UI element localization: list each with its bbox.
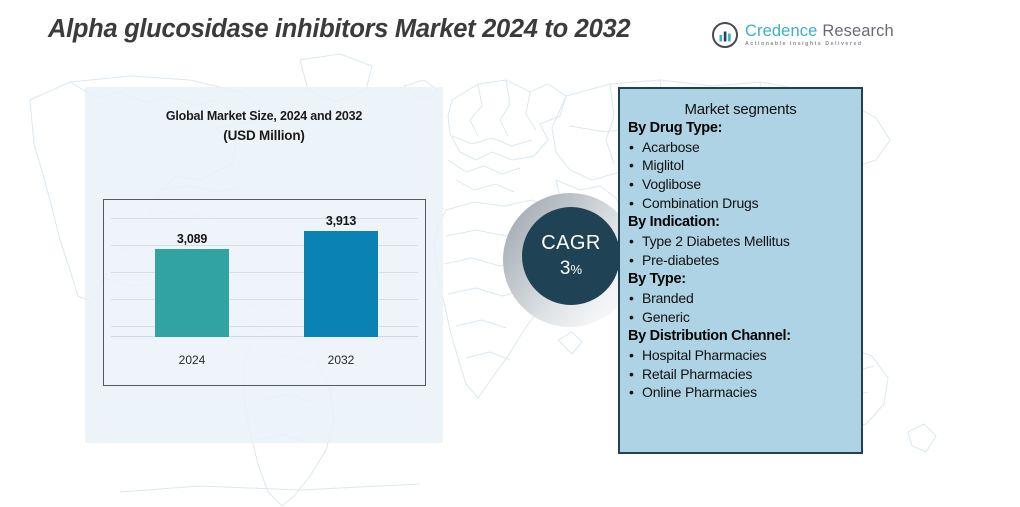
segment-group: By Distribution Channel:•Hospital Pharma… — [620, 327, 861, 402]
segment-item-label: Hospital Pharmacies — [642, 347, 767, 363]
segment-item-label: Acarbose — [642, 139, 700, 155]
logo-text: Credence Research Actionable Insights De… — [745, 23, 894, 48]
cagr-value-row: 3 % — [560, 258, 582, 280]
segment-item[interactable]: •Voglibose — [620, 175, 861, 194]
segment-item[interactable]: •Combination Drugs — [620, 194, 861, 213]
segment-heading: By Drug Type: — [620, 119, 861, 138]
axis-label-2024: 2024 — [155, 353, 229, 367]
chart-bars-circle-logo-icon — [712, 22, 738, 48]
segment-item-label: Combination Drugs — [642, 195, 758, 211]
segment-item[interactable]: •Miglitol — [620, 156, 861, 175]
segment-list: •Acarbose•Miglitol•Voglibose•Combination… — [620, 138, 861, 212]
segments-body: By Drug Type:•Acarbose•Miglitol•Voglibos… — [620, 119, 861, 402]
axis-label-2032: 2032 — [304, 353, 378, 367]
segment-item-label: Pre-diabetes — [642, 252, 719, 268]
brand-logo[interactable]: Credence Research Actionable Insights De… — [712, 22, 894, 48]
cagr-circle: CAGR 3 % — [522, 207, 620, 305]
chart-subtitle: (USD Million) — [85, 128, 443, 143]
logo-word-research: Research — [822, 23, 893, 40]
segment-heading: By Distribution Channel: — [620, 327, 861, 346]
bullet-icon: • — [629, 194, 634, 213]
segment-heading: By Type: — [620, 270, 861, 289]
bullet-icon: • — [629, 308, 634, 327]
bullet-icon: • — [629, 232, 634, 251]
segment-item[interactable]: •Pre-diabetes — [620, 251, 861, 270]
segment-item[interactable]: •Type 2 Diabetes Mellitus — [620, 232, 861, 251]
segment-item-label: Online Pharmacies — [642, 384, 757, 400]
bullet-icon: • — [629, 175, 634, 194]
cagr-value: 3 — [560, 258, 571, 280]
bullet-icon: • — [629, 346, 634, 365]
segment-group: By Drug Type:•Acarbose•Miglitol•Voglibos… — [620, 119, 861, 212]
bullet-icon: • — [629, 289, 634, 308]
segment-heading: By Indication: — [620, 213, 861, 232]
logo-tagline: Actionable Insights Delivered — [745, 42, 894, 47]
market-segments-panel: Market segments By Drug Type:•Acarbose•M… — [618, 87, 863, 454]
cagr-badge: CAGR 3 % — [503, 193, 637, 327]
bar-chart-plot-area: 3,089 3,913 2024 2032 — [103, 199, 426, 386]
segment-item[interactable]: •Hospital Pharmacies — [620, 346, 861, 365]
segment-item[interactable]: •Generic — [620, 308, 861, 327]
infographic-canvas: Alpha glucosidase inhibitors Market 2024… — [0, 0, 1020, 507]
bar-value-label-2032: 3,913 — [304, 214, 378, 228]
segment-group: By Indication:•Type 2 Diabetes Mellitus•… — [620, 213, 861, 269]
segment-list: •Type 2 Diabetes Mellitus•Pre-diabetes — [620, 232, 861, 269]
bullet-icon: • — [629, 383, 634, 402]
market-size-chart-panel: Global Market Size, 2024 and 2032 (USD M… — [85, 87, 443, 443]
segment-item-label: Miglitol — [642, 157, 684, 173]
segment-list: •Hospital Pharmacies•Retail Pharmacies•O… — [620, 346, 861, 402]
segment-item[interactable]: •Online Pharmacies — [620, 383, 861, 402]
segment-item[interactable]: •Branded — [620, 289, 861, 308]
segment-item[interactable]: •Acarbose — [620, 138, 861, 157]
segment-list: •Branded•Generic — [620, 289, 861, 326]
segment-item-label: Voglibose — [642, 176, 701, 192]
cagr-percent-sign: % — [571, 262, 583, 277]
bullet-icon: • — [629, 365, 634, 384]
segment-item-label: Retail Pharmacies — [642, 366, 752, 382]
chart-title: Global Market Size, 2024 and 2032 — [85, 109, 443, 123]
segment-item[interactable]: •Retail Pharmacies — [620, 365, 861, 384]
segment-item-label: Branded — [642, 290, 694, 306]
page-title: Alpha glucosidase inhibitors Market 2024… — [48, 15, 630, 44]
logo-word-credence: Credence — [745, 23, 817, 40]
cagr-label: CAGR — [541, 233, 600, 254]
bar-2024 — [155, 249, 229, 337]
segment-group: By Type:•Branded•Generic — [620, 270, 861, 326]
segment-item-label: Type 2 Diabetes Mellitus — [642, 233, 790, 249]
bullet-icon: • — [629, 156, 634, 175]
bar-value-label-2024: 3,089 — [155, 232, 229, 246]
bar-2032 — [304, 231, 378, 337]
bullet-icon: • — [629, 251, 634, 270]
bullet-icon: • — [629, 138, 634, 157]
segment-item-label: Generic — [642, 309, 690, 325]
segments-title: Market segments — [620, 101, 861, 118]
